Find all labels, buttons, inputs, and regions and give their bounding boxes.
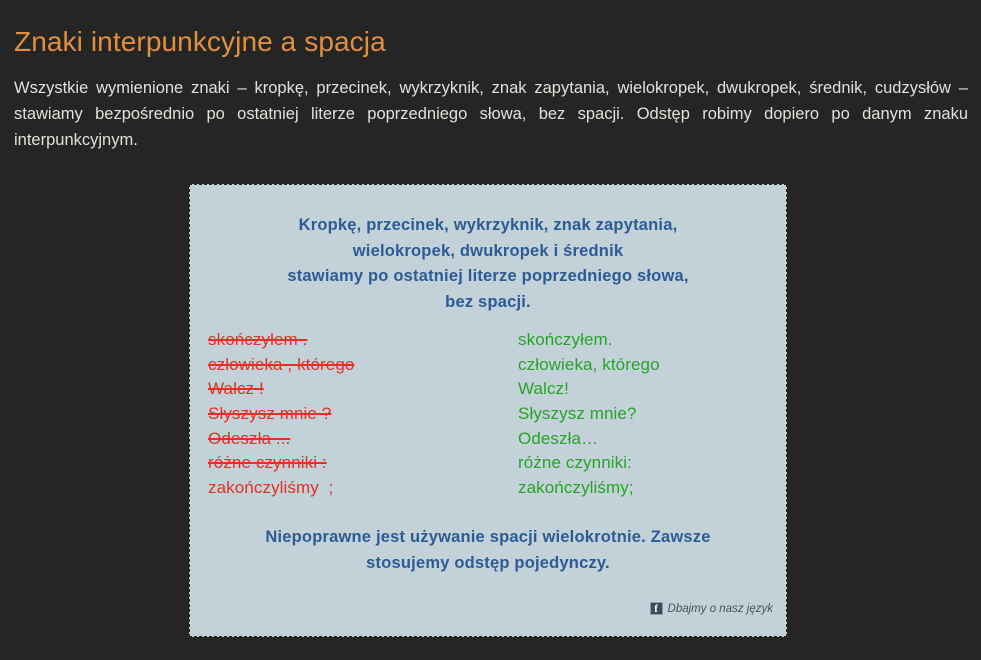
incorrect-examples-column: skończyłem .człowieka , któregoWalcz !Sł… <box>208 328 354 501</box>
correct-example-line: Walcz! <box>518 377 660 402</box>
correct-example-line: Słyszysz mnie? <box>518 402 660 427</box>
correct-examples-column: skończyłem.człowieka, któregoWalcz!Słysz… <box>518 328 660 501</box>
incorrect-example-line: Słyszysz mnie ? <box>208 402 354 427</box>
correct-example-line: skończyłem. <box>518 328 660 353</box>
correct-example-line: człowieka, którego <box>518 353 660 378</box>
heading-line-4: bez spacji. <box>193 290 783 316</box>
infographic-card: Kropkę, przecinek, wykrzyknik, znak zapy… <box>189 184 787 637</box>
incorrect-example-line: różne czynniki : <box>208 451 354 476</box>
incorrect-example-line: Walcz ! <box>208 377 354 402</box>
heading-line-1: Kropkę, przecinek, wykrzyknik, znak zapy… <box>193 213 783 239</box>
page-title: Znaki interpunkcyjne a spacja <box>14 24 386 60</box>
facebook-icon[interactable]: f <box>650 602 663 615</box>
incorrect-example-line: człowieka , którego <box>208 353 354 378</box>
infographic-heading: Kropkę, przecinek, wykrzyknik, znak zapy… <box>193 213 783 315</box>
correct-example-line: różne czynniki: <box>518 451 660 476</box>
incorrect-example-line: zakończyliśmy ; <box>208 476 354 501</box>
attribution-text: Dbajmy o nasz język <box>668 603 773 615</box>
infographic-inner: Kropkę, przecinek, wykrzyknik, znak zapy… <box>193 188 783 633</box>
incorrect-example-line: skończyłem . <box>208 328 354 353</box>
correct-example-line: Odeszła… <box>518 427 660 452</box>
example-columns: skończyłem .człowieka , któregoWalcz !Sł… <box>193 328 783 508</box>
infographic-footnote: Niepoprawne jest używanie spacji wielokr… <box>193 524 783 576</box>
attribution[interactable]: f Dbajmy o nasz język <box>650 602 773 615</box>
incorrect-example-line: Odeszła ... <box>208 427 354 452</box>
heading-line-3: stawiamy po ostatniej literze poprzednie… <box>193 264 783 290</box>
heading-line-2: wielokropek, dwukropek i średnik <box>193 239 783 265</box>
footnote-line-2: stosujemy odstęp pojedynczy. <box>193 550 783 576</box>
correct-example-line: zakończyliśmy; <box>518 476 660 501</box>
intro-paragraph: Wszystkie wymienione znaki – kropkę, prz… <box>14 75 968 153</box>
footnote-line-1: Niepoprawne jest używanie spacji wielokr… <box>193 524 783 550</box>
